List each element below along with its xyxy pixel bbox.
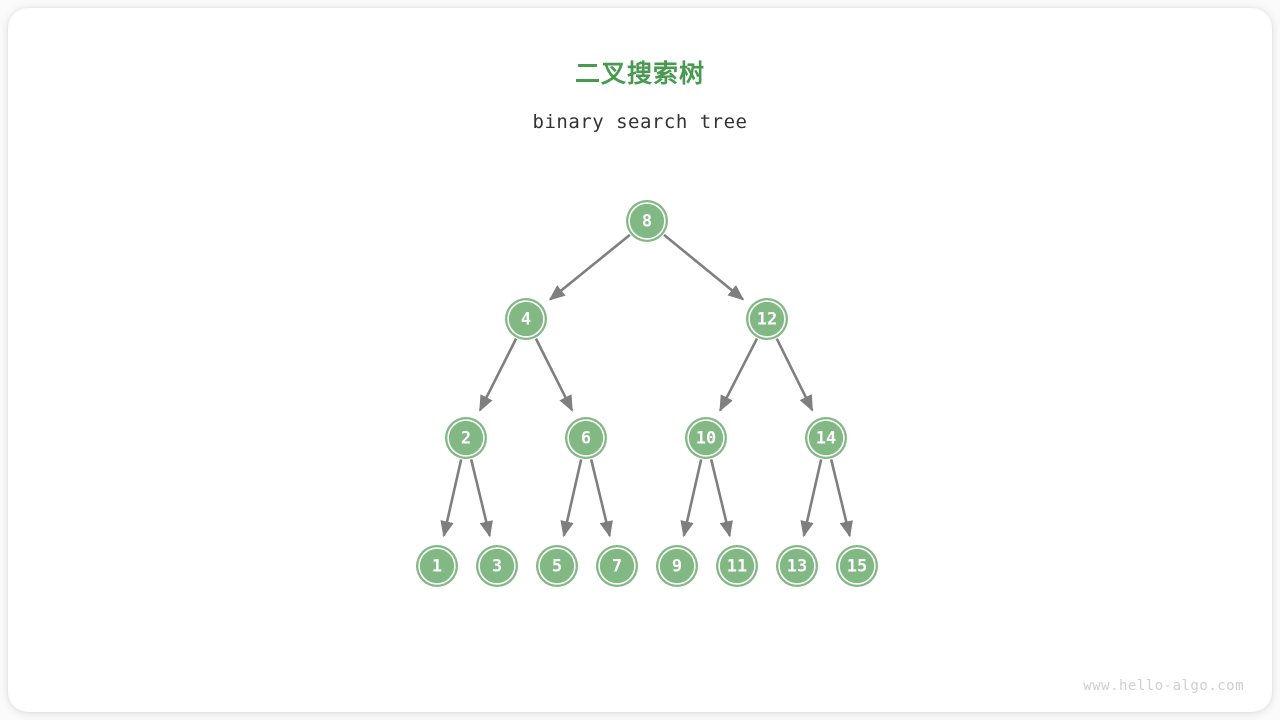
tree-node-label: 12	[757, 310, 777, 330]
tree-edge	[480, 339, 516, 411]
tree-edge-layer	[444, 235, 850, 536]
tree-edge	[444, 459, 461, 535]
tree-node[interactable]: 5	[536, 545, 578, 587]
tree-node[interactable]: 6	[565, 417, 607, 459]
tree-node-label: 1	[432, 557, 442, 577]
tree-edge	[684, 459, 701, 535]
tree-node-label: 11	[727, 557, 747, 577]
tree-edge	[664, 235, 743, 299]
tree-node[interactable]: 3	[476, 545, 518, 587]
tree-node-label: 9	[672, 557, 682, 577]
tree-node-label: 4	[521, 310, 531, 330]
tree-edge	[777, 339, 812, 411]
tree-edge	[711, 459, 730, 535]
tree-node-label: 3	[492, 557, 502, 577]
tree-node[interactable]: 10	[685, 417, 727, 459]
tree-edge	[804, 459, 821, 535]
tree-edge	[564, 459, 581, 535]
tree-edge	[550, 235, 630, 300]
tree-node[interactable]: 14	[805, 417, 847, 459]
tree-node-label: 14	[816, 429, 836, 449]
tree-node-label: 2	[461, 429, 471, 449]
tree-node-label: 7	[612, 557, 622, 577]
binary-search-tree-diagram: 841226101413579111315	[8, 8, 1272, 712]
site-watermark: www.hello-algo.com	[1083, 678, 1244, 694]
tree-node[interactable]: 15	[836, 545, 878, 587]
tree-edge	[471, 459, 490, 535]
tree-node[interactable]: 1	[416, 545, 458, 587]
tree-node[interactable]: 13	[776, 545, 818, 587]
tree-node[interactable]: 2	[445, 417, 487, 459]
tree-node-label: 5	[552, 557, 562, 577]
tree-node[interactable]: 4	[505, 298, 547, 340]
tree-node-label: 10	[696, 429, 716, 449]
tree-node-label: 15	[847, 557, 867, 577]
tree-node-label: 13	[787, 557, 807, 577]
tree-node[interactable]: 9	[656, 545, 698, 587]
tree-edge	[831, 459, 850, 535]
tree-node-label: 8	[642, 212, 652, 232]
tree-edge	[720, 339, 757, 411]
tree-node[interactable]: 11	[716, 545, 758, 587]
tree-edge	[536, 339, 572, 411]
diagram-card: 二叉搜索树 binary search tree 841226101413579…	[8, 8, 1272, 712]
tree-edge	[591, 459, 610, 535]
screenshot-stage: 二叉搜索树 binary search tree 841226101413579…	[0, 0, 1280, 720]
tree-node[interactable]: 12	[746, 298, 788, 340]
tree-node[interactable]: 8	[626, 200, 668, 242]
tree-node-label: 6	[581, 429, 591, 449]
tree-node-layer: 841226101413579111315	[416, 200, 878, 587]
tree-node[interactable]: 7	[596, 545, 638, 587]
